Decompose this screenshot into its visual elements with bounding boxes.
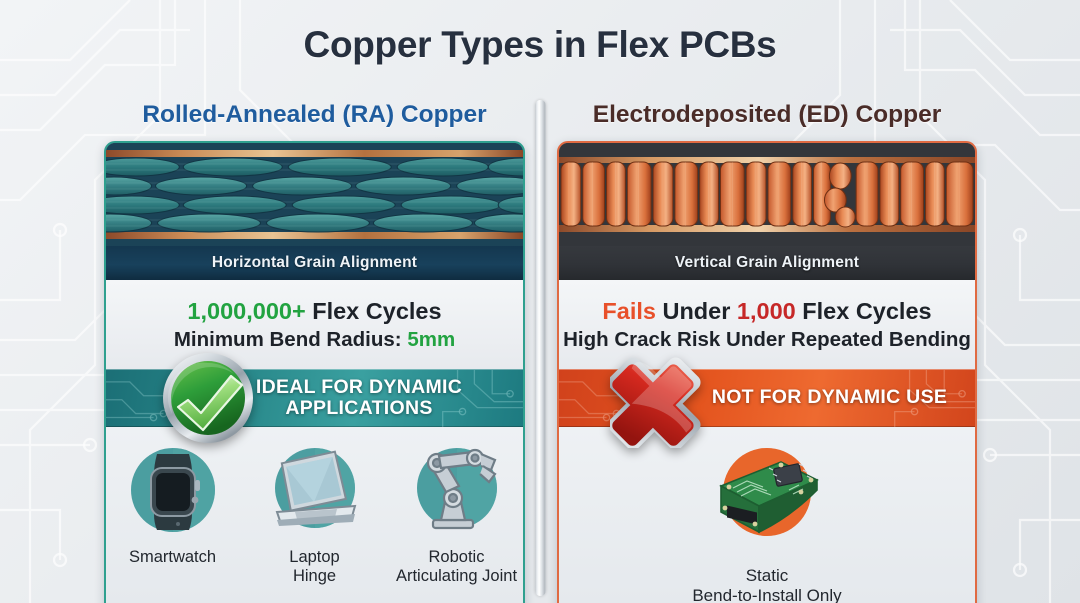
stat-flex-cycles-left: 1,000,000+ Flex Cycles: [187, 298, 441, 325]
stats-left: 1,000,000+ Flex Cycles Minimum Bend Radi…: [106, 280, 523, 369]
stat-mid-word: Under: [656, 298, 737, 324]
stat-crack-risk-right: High Crack Risk Under Repeated Bending: [563, 328, 971, 352]
stat-bend-radius-left: Minimum Bend Radius: 5mm: [174, 328, 455, 352]
stat-cycles-value-right: 1,000: [737, 298, 796, 324]
page-title: Copper Types in Flex PCBs: [0, 24, 1080, 66]
verdict-line1-right: NOT FOR DYNAMIC USE: [712, 386, 947, 408]
robot-arm-icon: [405, 440, 509, 544]
caption-line1: Static: [746, 566, 789, 585]
application-caption: Static Bend-to-Install Only: [692, 566, 841, 603]
application-caption: Laptop Hinge: [289, 548, 339, 586]
application-caption: Smartwatch: [129, 548, 216, 567]
stat-cycles-value-left: 1,000,000+: [187, 298, 305, 324]
stat-flex-cycles-right: Fails Under 1,000 Flex Cycles: [602, 298, 931, 325]
caption-line2: Hinge: [293, 567, 336, 585]
smartwatch-icon: [121, 440, 225, 544]
grain-label-right: Vertical Grain Alignment: [559, 246, 975, 280]
stat-fail-word: Fails: [602, 298, 656, 324]
column-heading-left: Rolled-Annealed (RA) Copper: [104, 101, 525, 129]
verdict-text-right: NOT FOR DYNAMIC USE: [707, 387, 952, 408]
verdict-text-left: IDEAL FOR DYNAMIC APPLICATIONS: [254, 377, 464, 419]
caption-line1: Robotic: [429, 548, 485, 566]
stats-right: Fails Under 1,000 Flex Cycles High Crack…: [559, 280, 975, 369]
column-heading-right: Electrodeposited (ED) Copper: [557, 101, 977, 129]
application-item: Robotic Articulating Joint: [393, 440, 521, 586]
stat-cycles-rest-right: Flex Cycles: [796, 298, 932, 324]
grain-label-left: Horizontal Grain Alignment: [106, 246, 523, 280]
verdict-banner-left: IDEAL FOR DYNAMIC APPLICATIONS: [106, 369, 523, 427]
stat-radius-value-left: 5mm: [407, 328, 455, 351]
flex-pcb-board-icon: [703, 440, 831, 564]
stat-radius-label-left: Minimum Bend Radius:: [174, 328, 407, 351]
grain-micrograph-vertical: [559, 143, 975, 246]
grain-micrograph-horizontal: [106, 143, 523, 246]
caption-line2: Bend-to-Install Only: [692, 586, 841, 603]
laptop-icon: [263, 440, 367, 544]
caption-line1: Smartwatch: [129, 548, 216, 566]
center-divider: [535, 100, 546, 596]
applications-right: Static Bend-to-Install Only: [559, 427, 975, 603]
application-caption: Robotic Articulating Joint: [396, 548, 517, 586]
verdict-banner-right: NOT FOR DYNAMIC USE: [559, 369, 975, 427]
caption-line2: Articulating Joint: [396, 567, 517, 585]
caption-line1: Laptop: [289, 548, 339, 566]
application-item: Laptop Hinge: [251, 440, 379, 586]
card-rolled-annealed: Horizontal Grain Alignment 1,000,000+ Fl…: [104, 141, 525, 603]
application-item: Static Bend-to-Install Only: [637, 440, 897, 603]
applications-left: Smartwatch Laptop: [106, 427, 523, 603]
card-electrodeposited: Vertical Grain Alignment Fails Under 1,0…: [557, 141, 977, 603]
verdict-line2-left: APPLICATIONS: [285, 397, 432, 419]
stat-cycles-rest-left: Flex Cycles: [306, 298, 442, 324]
verdict-line1-left: IDEAL FOR DYNAMIC: [256, 376, 462, 398]
application-item: Smartwatch: [109, 440, 237, 567]
infographic-root: Copper Types in Flex PCBs Rolled-Anneale…: [0, 0, 1080, 603]
